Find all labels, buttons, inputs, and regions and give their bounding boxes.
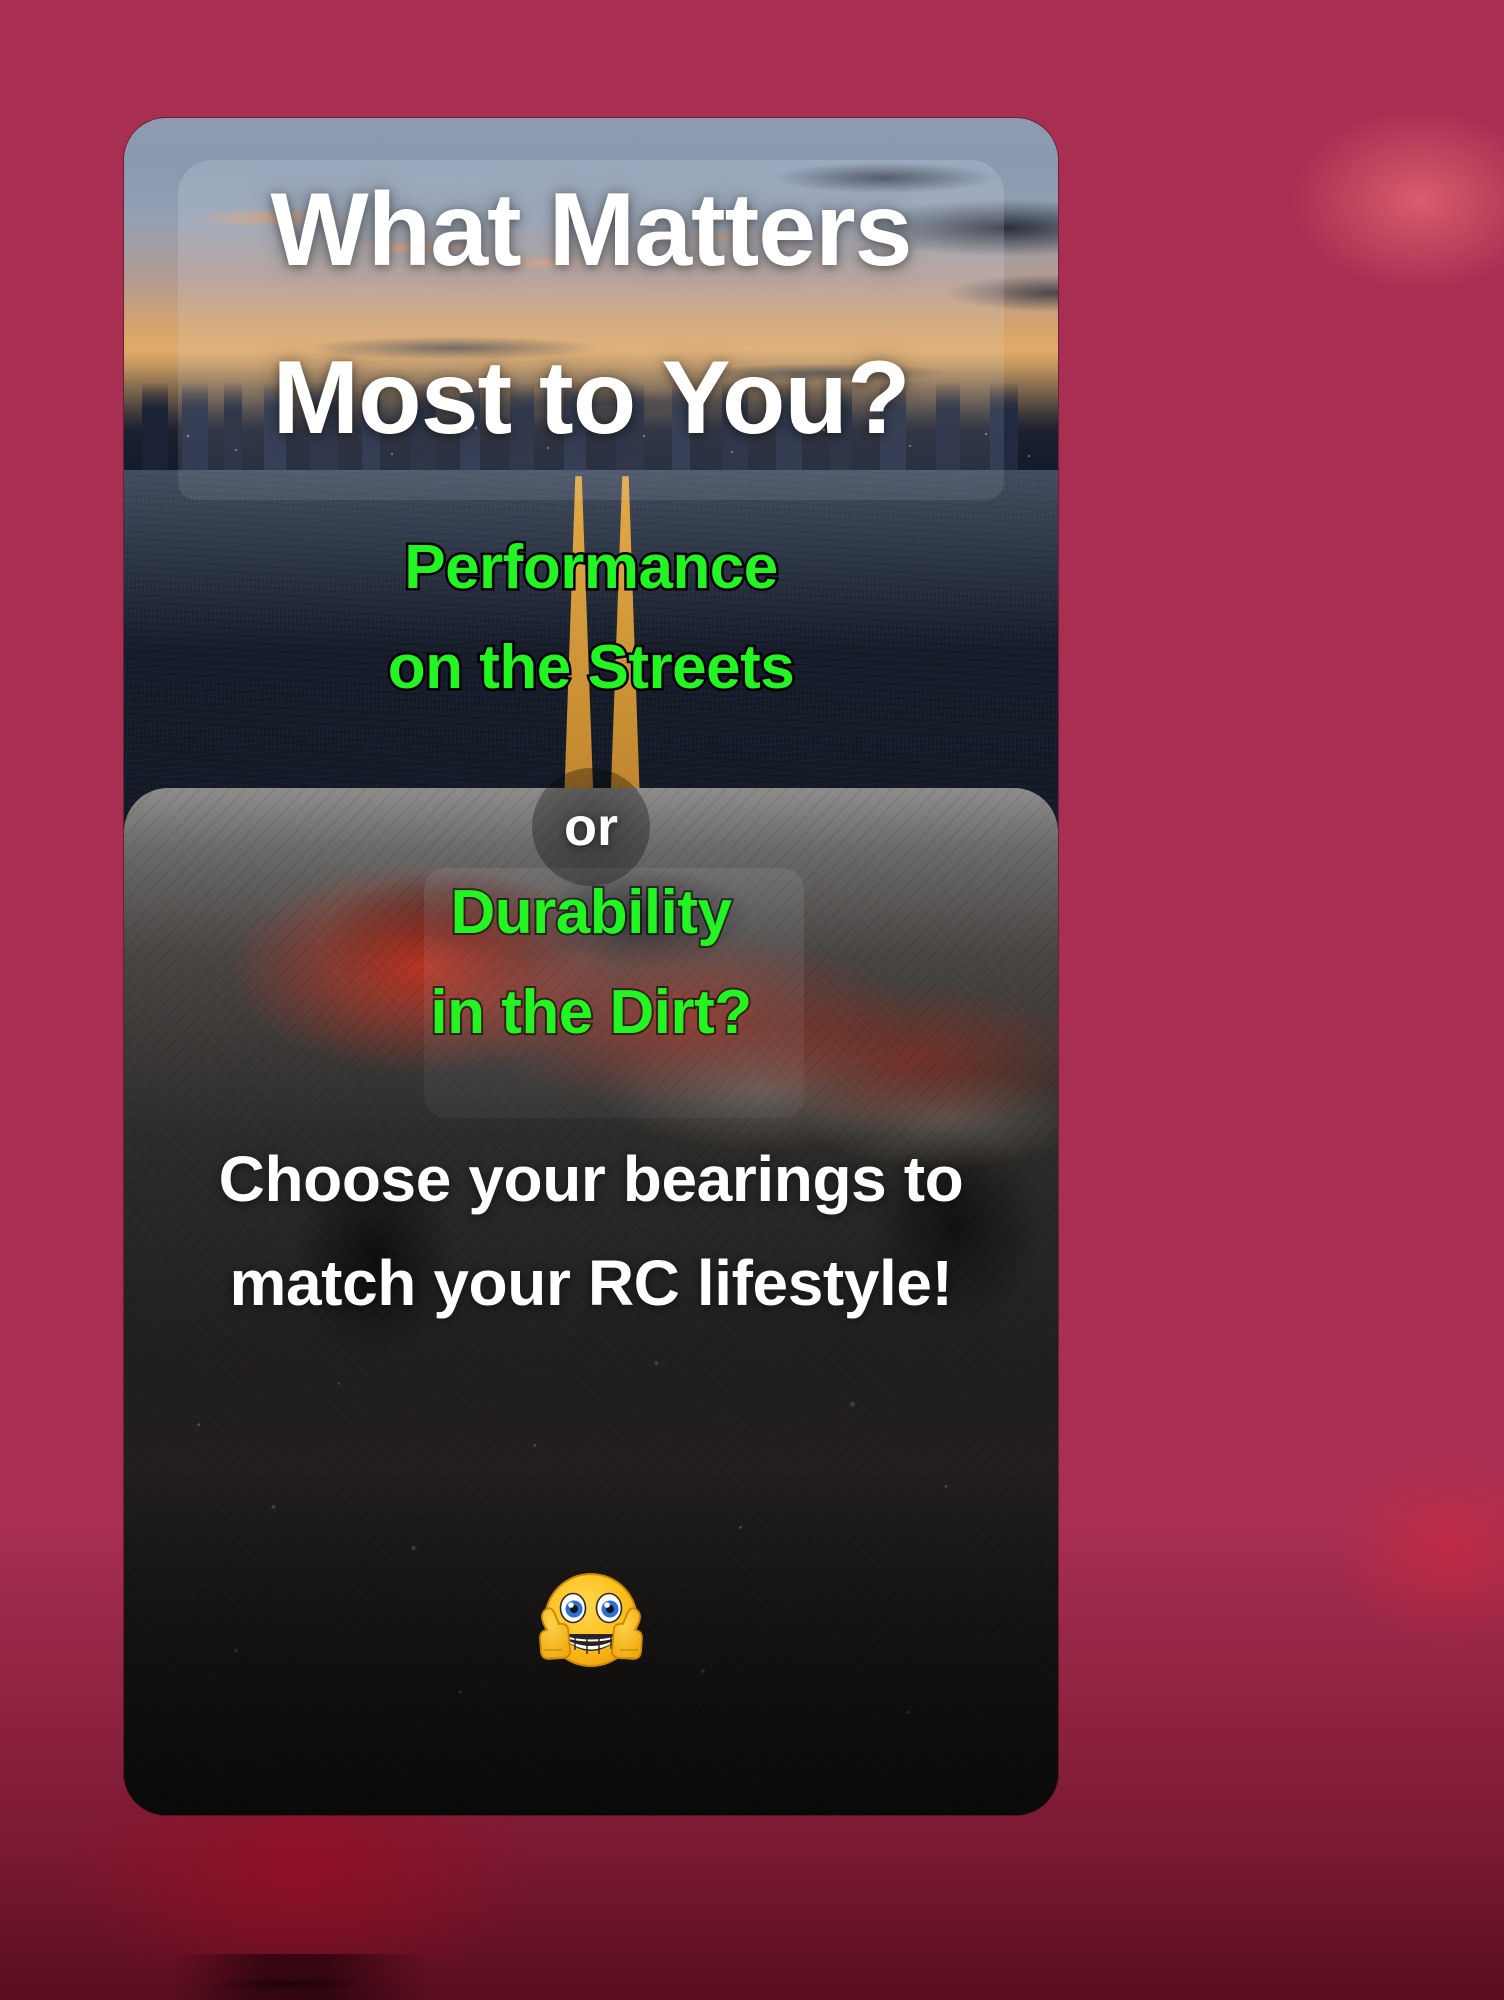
option-performance-line-2: on the Streets: [124, 618, 1058, 718]
option-durability-line-1: Durability: [124, 863, 1058, 963]
headline-line-1: What Matters: [124, 146, 1058, 314]
emoji-container: [124, 1558, 1058, 1703]
poster-card: What Matters Most to You? Performance on…: [124, 118, 1058, 1815]
grinning-face-thumbs-up-icon: [511, 1558, 671, 1698]
poster: What Matters Most to You? Performance on…: [0, 0, 1504, 2000]
background-silhouette: [170, 1954, 430, 2000]
option-performance: Performance on the Streets: [124, 518, 1058, 719]
page-title: What Matters Most to You?: [124, 146, 1058, 483]
option-durability: Durability in the Dirt?: [124, 863, 1058, 1064]
headline-line-2: Most to You?: [124, 314, 1058, 482]
cta-line-2: match your RC lifestyle!: [148, 1232, 1034, 1336]
call-to-action: Choose your bearings to match your RC li…: [124, 1128, 1058, 1335]
option-durability-line-2: in the Dirt?: [124, 963, 1058, 1063]
option-performance-line-1: Performance: [124, 518, 1058, 618]
divider-label: or: [564, 800, 618, 854]
cta-line-1: Choose your bearings to: [148, 1128, 1034, 1232]
